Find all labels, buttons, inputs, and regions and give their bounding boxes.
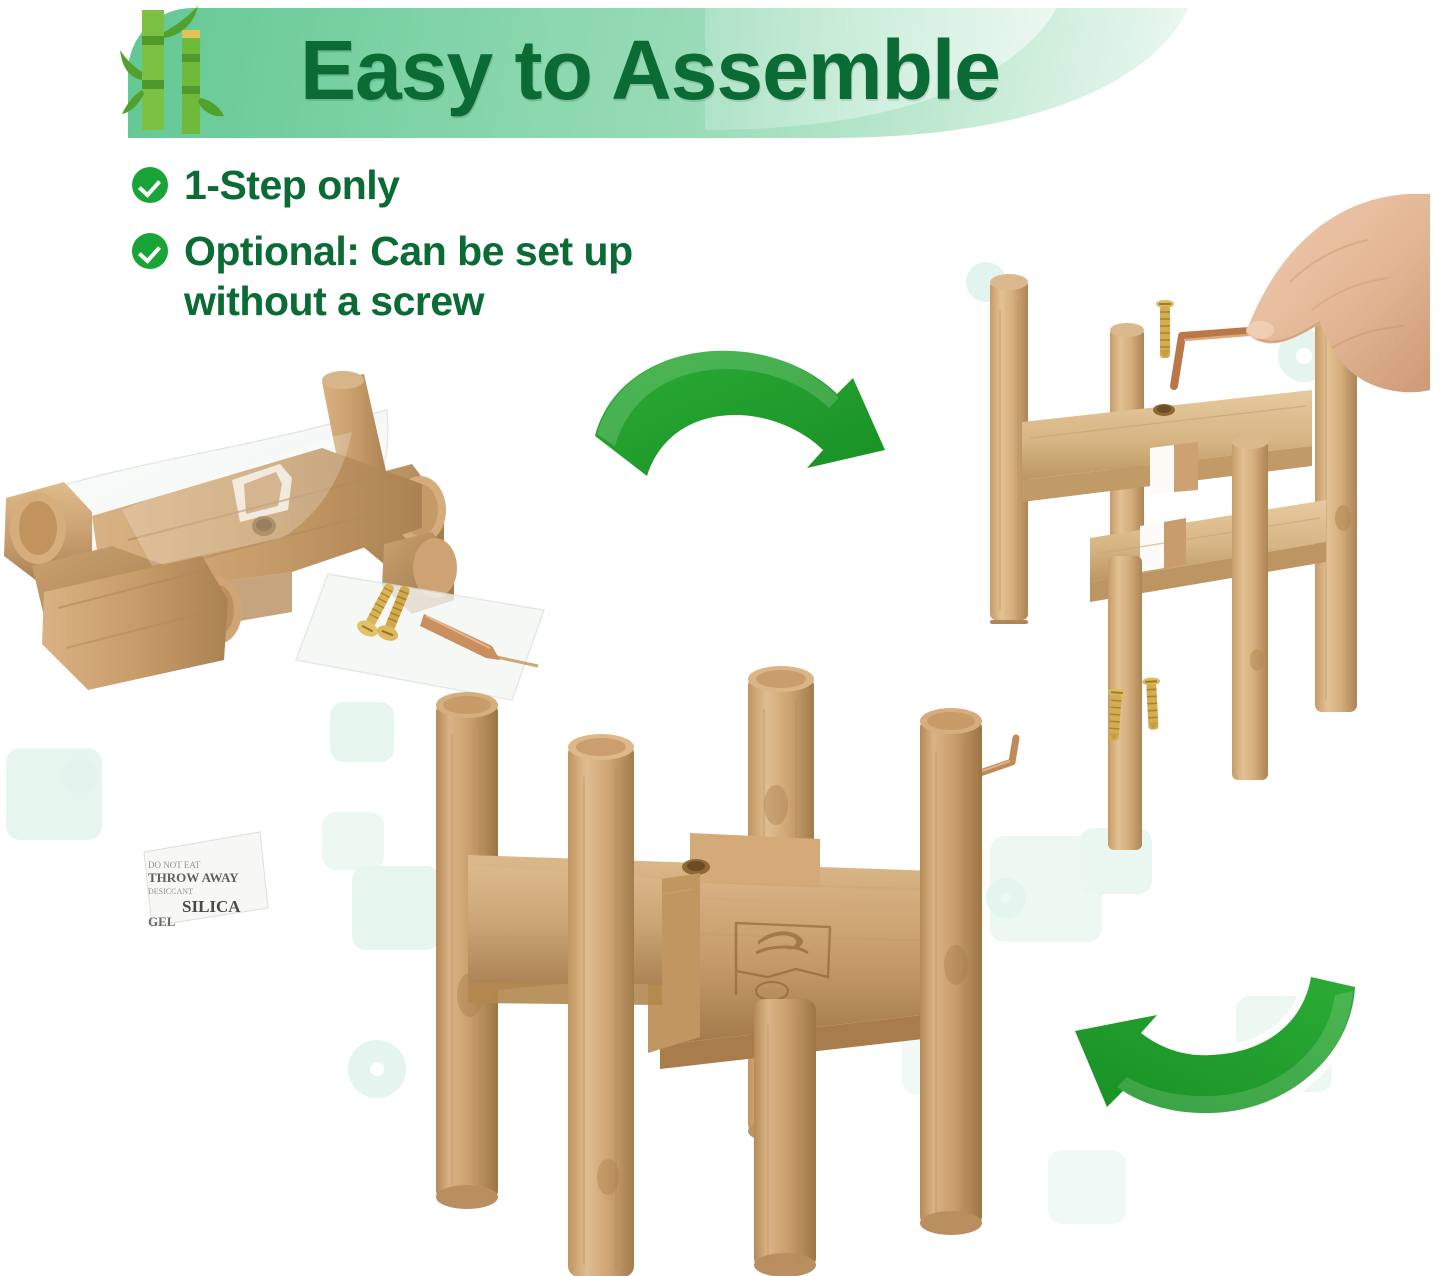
feature-list: 1-Step only Optional: Can be set up with… xyxy=(132,160,892,342)
assembled-plant-stand-photo xyxy=(400,665,1030,1276)
svg-text:DO NOT EAT: DO NOT EAT xyxy=(148,860,201,870)
screw xyxy=(1142,677,1163,730)
bamboo-stalks-icon xyxy=(118,2,228,142)
svg-text:DESICCANT: DESICCANT xyxy=(148,887,193,896)
svg-text:SILICA: SILICA xyxy=(182,897,241,916)
flow-arrow-1 xyxy=(585,338,915,513)
leg xyxy=(1232,435,1268,780)
infographic-page: Easy to Assemble 1-Step only Optional: C… xyxy=(0,0,1445,1276)
bg-ring xyxy=(348,1040,406,1098)
bg-square xyxy=(322,812,384,870)
bg-dot xyxy=(62,758,98,794)
allen-key xyxy=(1174,330,1262,386)
list-item: Optional: Can be set up without a screw xyxy=(132,226,892,326)
feature-label-line2: without a screw xyxy=(184,278,484,324)
feature-label-line1: Optional: Can be set up xyxy=(184,228,633,274)
feature-label: 1-Step only xyxy=(184,160,399,210)
assembly-step-photo xyxy=(960,190,1430,850)
flow-arrow-2 xyxy=(1035,965,1365,1150)
page-title: Easy to Assemble xyxy=(300,18,1200,122)
bg-square xyxy=(6,748,102,840)
leg xyxy=(754,999,816,1276)
silica-gel-label: DO NOT EAT THROW AWAY DESICCANT SILICA G… xyxy=(144,832,268,929)
check-circle-icon xyxy=(132,167,168,203)
screw xyxy=(1156,300,1174,358)
leg xyxy=(920,708,982,1235)
cross-rail xyxy=(1022,390,1312,502)
list-item: 1-Step only xyxy=(132,160,892,210)
bg-square xyxy=(1048,1150,1126,1224)
feature-label: Optional: Can be set up without a screw xyxy=(184,226,633,326)
check-circle-icon xyxy=(132,233,168,269)
svg-text:GEL: GEL xyxy=(148,914,176,929)
leg xyxy=(568,734,634,1276)
svg-text:THROW AWAY: THROW AWAY xyxy=(148,870,239,885)
